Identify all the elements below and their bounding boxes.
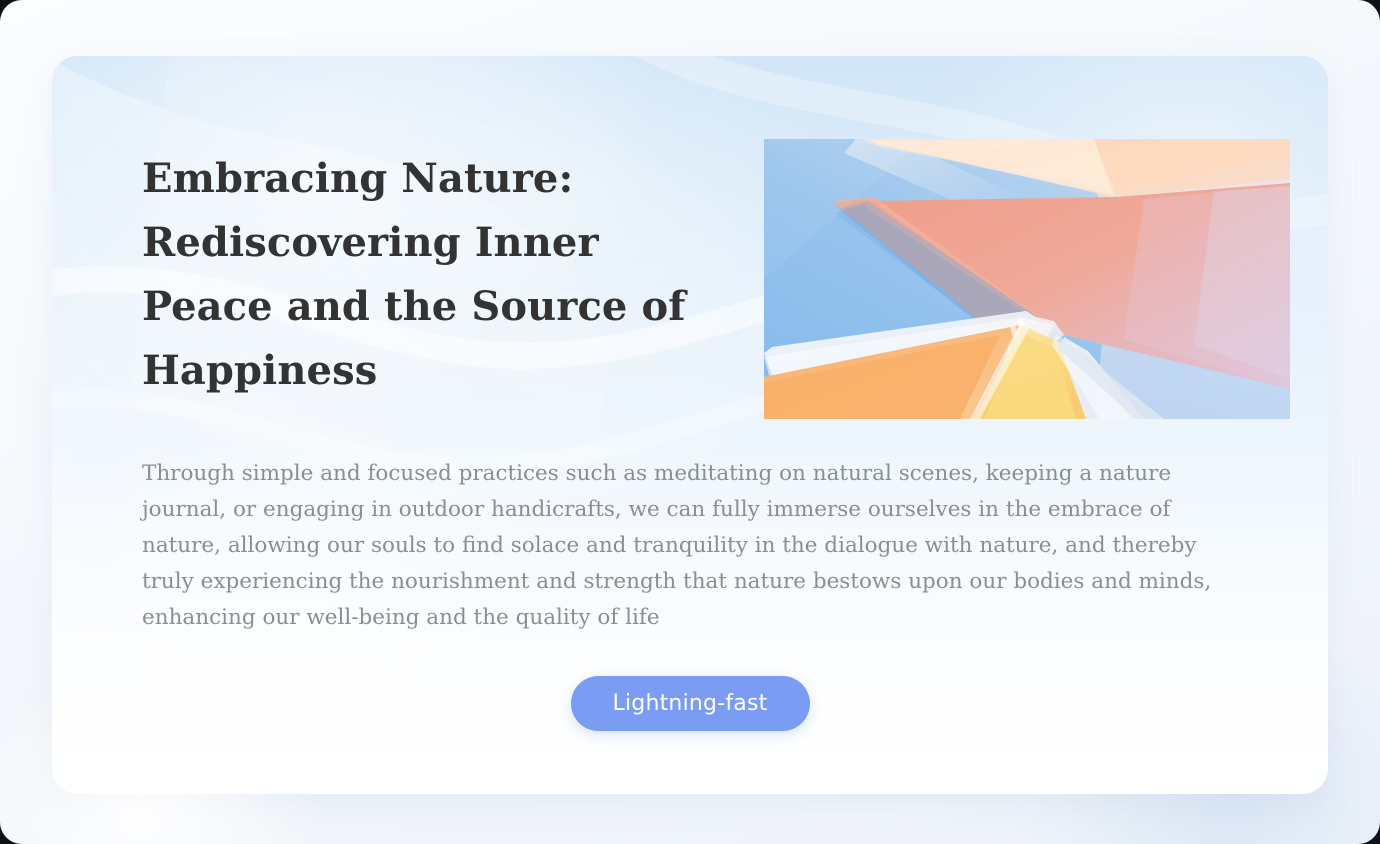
cta-row: Lightning-fast bbox=[52, 676, 1328, 731]
body-paragraph: Through simple and focused practices suc… bbox=[142, 456, 1242, 636]
hero-image bbox=[764, 139, 1290, 419]
page-shell: Embracing Nature: Rediscovering Inner Pe… bbox=[0, 0, 1380, 844]
page-title: Embracing Nature: Rediscovering Inner Pe… bbox=[142, 147, 702, 403]
abstract-prisms-illustration bbox=[764, 139, 1290, 419]
hero-card: Embracing Nature: Rediscovering Inner Pe… bbox=[52, 56, 1328, 794]
lightning-fast-button[interactable]: Lightning-fast bbox=[571, 676, 810, 731]
hero-top-row: Embracing Nature: Rediscovering Inner Pe… bbox=[52, 56, 1328, 456]
